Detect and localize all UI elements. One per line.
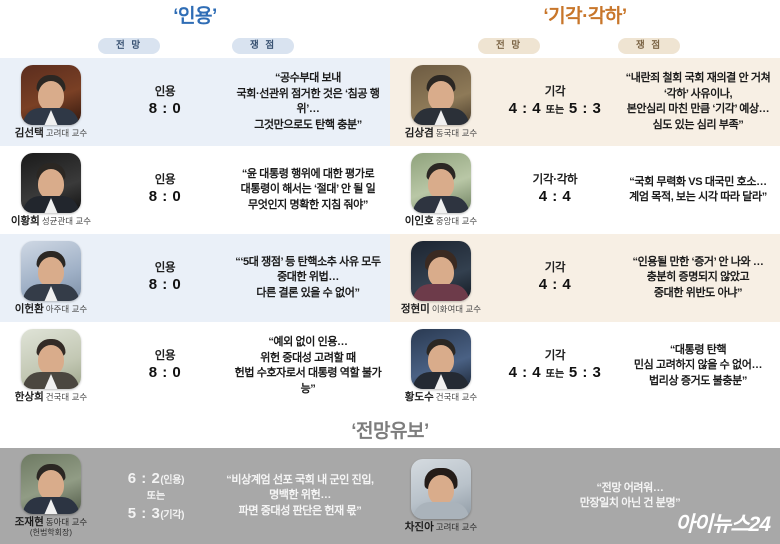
expert-row: 이인호중앙대 교수 기각·각하 4 : 4 “국회 무력화 VS 대국민 호소…… (390, 146, 780, 234)
expert-quote: “내란죄 철회 국회 재의결 안 거쳐 ‘각하’ 사유이나, 본안심리 마친 만… (624, 71, 780, 133)
expert-name: 정현미 (401, 303, 430, 315)
forecast-cell: 6 : 2(인용) 또는 5 : 3(기각) (96, 469, 216, 523)
column-reject: ‘기각·각하’ 전 망 쟁 점 김상겸동국대 교수 기각 4 : 4 또는 5 … (390, 0, 780, 416)
expert-affiliation: 동아대 교수 (46, 517, 87, 527)
column-accept-title: ‘인용’ (0, 0, 390, 34)
expert-profile: 김선택고려대 교수 (0, 65, 96, 139)
forecast-score-a: 6 : 2 (128, 470, 161, 487)
expert-quote: “대통령 탄핵 민심 고려하지 않을 수 없어… 법리상 증거도 불충분” (624, 343, 780, 390)
forecast-cell: 인용 8 : 0 (96, 173, 234, 207)
forecast-score: 8 : 0 (96, 100, 234, 119)
expert-name-line: 정현미이화여대 교수 (396, 304, 486, 315)
avatar (411, 459, 471, 519)
expert-name: 황도수 (405, 391, 434, 403)
forecast-cell: 인용 8 : 0 (96, 349, 234, 383)
badge-forecast: 전 망 (478, 38, 540, 54)
forecast-conjunction: 또는 (96, 490, 216, 503)
expert-name-line: 한상희건국대 교수 (6, 392, 96, 403)
expert-profile: 정현미이화여대 교수 (390, 241, 486, 315)
reserve-entry-left: 조재현동아대 교수 (헌법학회장) 6 : 2(인용) 또는 5 : 3(기각)… (0, 454, 390, 538)
expert-name-line: 황도수건국대 교수 (396, 392, 486, 403)
forecast-label: 기각 (486, 349, 624, 363)
forecast-label: 인용 (96, 261, 234, 275)
forecast-score: 4 : 4 (486, 276, 624, 295)
expert-row: 황도수건국대 교수 기각 4 : 4 또는 5 : 3 “대통령 탄핵 민심 고… (390, 322, 780, 410)
expert-affiliation: 고려대 교수 (46, 128, 87, 138)
forecast-score-b: 5 : 3 (128, 505, 161, 522)
expert-extra-title: (헌법학회장) (6, 528, 96, 538)
publisher-logo: 아이뉴스24 (675, 508, 770, 538)
forecast-cell: 인용 8 : 0 (96, 85, 234, 119)
expert-name: 이헌환 (15, 303, 44, 315)
forecast-conjunction: 또는 (546, 105, 564, 116)
forecast-label: 인용 (96, 85, 234, 99)
forecast-score: 8 : 0 (96, 276, 234, 295)
expert-name-line: 이황희성균관대 교수 (6, 216, 96, 227)
forecast-conjunction: 또는 (546, 369, 564, 380)
expert-quote: “비상계엄 선포 국회 내 군인 진입, 명백한 위헌… 파면 중대성 판단은 … (216, 473, 390, 520)
forecast-cell: 기각 4 : 4 또는 5 : 3 (486, 85, 624, 119)
forecast-label: 기각·각하 (486, 173, 624, 187)
forecast-score: 8 : 0 (96, 188, 234, 207)
expert-name: 이황희 (11, 215, 40, 227)
expert-affiliation: 성균관대 교수 (42, 216, 91, 226)
forecast-label: 기각 (486, 85, 624, 99)
expert-affiliation: 건국대 교수 (436, 392, 477, 402)
expert-profile: 이황희성균관대 교수 (0, 153, 96, 227)
badge-issue: 쟁 점 (618, 38, 680, 54)
expert-quote: “국회 무력화 VS 대국민 호소… 계엄 목적, 보는 시각 따라 달라” (624, 175, 780, 206)
forecast-score-a: 4 : 4 (509, 364, 542, 381)
forecast-score-a-line: 6 : 2(인용) (96, 469, 216, 489)
expert-profile: 이인호중앙대 교수 (390, 153, 486, 227)
expert-name-line: 김상겸동국대 교수 (396, 128, 486, 139)
expert-profile: 조재현동아대 교수 (헌법학회장) (0, 454, 96, 538)
expert-quote: “예외 없이 인용… 위헌 중대성 고려할 때 헌법 수호자로서 대통령 역할 … (234, 335, 390, 397)
forecast-cell: 기각·각하 4 : 4 (486, 173, 624, 207)
expert-row: 김선택고려대 교수 인용 8 : 0 “공수부대 보내 국회·선관위 점거한 것… (0, 58, 390, 146)
avatar (21, 65, 81, 125)
expert-name-line: 이인호중앙대 교수 (396, 216, 486, 227)
forecast-cell: 기각 4 : 4 (486, 261, 624, 295)
expert-quote: “인용될 만한 ‘증거’ 안 나와 … 충분히 증명되지 않았고 중대한 위반도… (624, 255, 780, 302)
reserve-section: 조재현동아대 교수 (헌법학회장) 6 : 2(인용) 또는 5 : 3(기각)… (0, 448, 780, 544)
expert-name: 김상겸 (405, 127, 434, 139)
forecast-score-b-tag: (기각) (160, 510, 184, 521)
forecast-score: 4 : 4 (486, 188, 624, 207)
expert-profile: 차진아고려대 교수 (390, 459, 486, 533)
column-reject-badges: 전 망 쟁 점 (390, 34, 780, 58)
avatar (21, 329, 81, 389)
avatar (21, 153, 81, 213)
forecast-score-b: 5 : 3 (569, 100, 602, 117)
avatar (21, 241, 81, 301)
expert-name: 김선택 (15, 127, 44, 139)
expert-quote: “공수부대 보내 국회·선관위 점거한 것은 ‘침공 행위’… 그것만으로도 탄… (234, 71, 390, 133)
column-accept-badges: 전 망 쟁 점 (0, 34, 390, 58)
expert-name-line: 김선택고려대 교수 (6, 128, 96, 139)
expert-profile: 황도수건국대 교수 (390, 329, 486, 403)
reserve-section-title: ‘전망유보’ (0, 416, 780, 448)
forecast-cell: 기각 4 : 4 또는 5 : 3 (486, 349, 624, 383)
forecast-label: 기각 (486, 261, 624, 275)
column-reject-title: ‘기각·각하’ (390, 0, 780, 34)
expert-profile: 한상희건국대 교수 (0, 329, 96, 403)
forecast-score: 4 : 4 또는 5 : 3 (486, 100, 624, 119)
column-accept: ‘인용’ 전 망 쟁 점 김선택고려대 교수 인용 8 : 0 “공수부대 보내… (0, 0, 390, 416)
expert-name: 한상희 (15, 391, 44, 403)
expert-quote: “윤 대통령 행위에 대한 평가로 대통령이 해서는 ‘절대’ 안 될 일 무엇… (234, 167, 390, 214)
avatar (411, 65, 471, 125)
forecast-score-a: 4 : 4 (509, 100, 542, 117)
expert-affiliation: 동국대 교수 (436, 128, 477, 138)
expert-row: 김상겸동국대 교수 기각 4 : 4 또는 5 : 3 “내란죄 철회 국회 재… (390, 58, 780, 146)
badge-forecast: 전 망 (98, 38, 160, 54)
expert-affiliation: 이화여대 교수 (432, 304, 481, 314)
forecast-cell: 인용 8 : 0 (96, 261, 234, 295)
forecast-label: 인용 (96, 349, 234, 363)
avatar (411, 153, 471, 213)
expert-name: 이인호 (405, 215, 434, 227)
expert-name-line: 조재현동아대 교수 (헌법학회장) (6, 517, 96, 538)
forecast-score: 8 : 0 (96, 364, 234, 383)
expert-name: 조재현 (15, 516, 44, 528)
expert-row: 정현미이화여대 교수 기각 4 : 4 “인용될 만한 ‘증거’ 안 나와 … … (390, 234, 780, 322)
forecast-score: 4 : 4 또는 5 : 3 (486, 364, 624, 383)
expert-affiliation: 고려대 교수 (436, 522, 477, 532)
expert-forecast-board: ‘인용’ 전 망 쟁 점 김선택고려대 교수 인용 8 : 0 “공수부대 보내… (0, 0, 780, 416)
forecast-score-b-line: 5 : 3(기각) (96, 504, 216, 524)
forecast-score-b: 5 : 3 (569, 364, 602, 381)
expert-name-line: 차진아고려대 교수 (396, 522, 486, 533)
avatar (411, 329, 471, 389)
forecast-label: 인용 (96, 173, 234, 187)
expert-profile: 이헌환아주대 교수 (0, 241, 96, 315)
expert-row: 이황희성균관대 교수 인용 8 : 0 “윤 대통령 행위에 대한 평가로 대통… (0, 146, 390, 234)
forecast-score-a-tag: (인용) (160, 475, 184, 486)
expert-affiliation: 아주대 교수 (46, 304, 87, 314)
expert-profile: 김상겸동국대 교수 (390, 65, 486, 139)
expert-affiliation: 중앙대 교수 (436, 216, 477, 226)
expert-row: 이헌환아주대 교수 인용 8 : 0 “‘5대 쟁점’ 등 탄핵소추 사유 모두… (0, 234, 390, 322)
expert-name-line: 이헌환아주대 교수 (6, 304, 96, 315)
badge-issue: 쟁 점 (232, 38, 294, 54)
avatar (411, 241, 471, 301)
avatar (21, 454, 81, 514)
expert-quote: “전망 어려워… 만장일치 아닌 건 분명” (486, 481, 780, 512)
expert-name: 차진아 (405, 521, 434, 533)
expert-row: 한상희건국대 교수 인용 8 : 0 “예외 없이 인용… 위헌 중대성 고려할… (0, 322, 390, 410)
expert-quote: “‘5대 쟁점’ 등 탄핵소추 사유 모두 중대한 위법… 다른 결론 있을 수… (234, 255, 390, 302)
expert-affiliation: 건국대 교수 (46, 392, 87, 402)
